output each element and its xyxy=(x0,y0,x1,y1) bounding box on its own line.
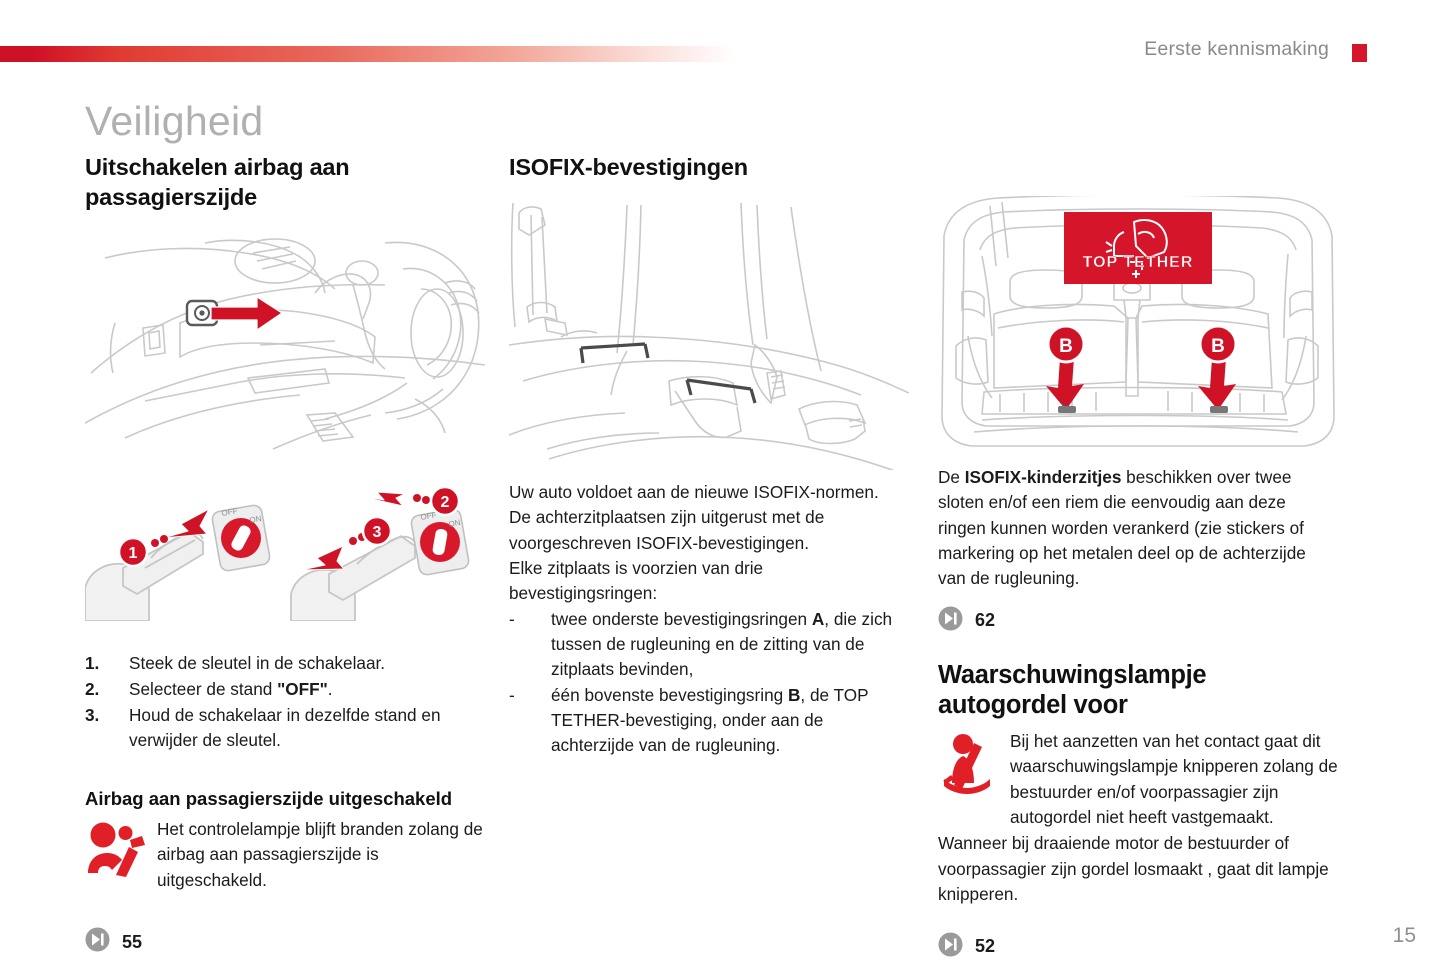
seatbelt-warning-text: Bij het aanzetten van het contact gaat d… xyxy=(1010,729,1338,830)
isofix-paragraph-1: Uw auto voldoet aan de nieuwe ISOFIX-nor… xyxy=(509,480,909,505)
step-text: Steek de sleutel in de schakelaar. xyxy=(129,653,385,673)
svg-text:B: B xyxy=(1059,336,1073,357)
seatbelt-warning-icon xyxy=(938,729,1010,800)
bullet-dash: - xyxy=(509,607,515,632)
bullet-item: - twee onderste bevestigingsringen A, di… xyxy=(509,607,909,683)
step-text-before: Selecteer de stand xyxy=(129,679,277,699)
red-square-icon xyxy=(1352,44,1367,62)
bullet-text-before: twee onderste bevestigingsringen xyxy=(551,609,812,629)
paragraph-text-bold: ISOFIX-kinderzitjes xyxy=(965,467,1122,487)
section-title-airbag: Uitschakelen airbag aan passagierszijde xyxy=(85,153,485,213)
right-column: TOP TETHER B B De ISOFIX-kinderzitjes be… xyxy=(938,196,1338,962)
page-ref-number: 52 xyxy=(975,936,995,957)
paragraph-text-before: De xyxy=(938,467,965,487)
section-title-isofix: ISOFIX-bevestigingen xyxy=(509,153,909,183)
seatbelt-paragraph-2: Wanneer bij draaiende motor de bestuurde… xyxy=(938,831,1338,907)
airbag-warning-text: Het controlelampje blijft branden zolang… xyxy=(157,817,485,893)
key-switch-steps-illustration: OFF ON 1 xyxy=(85,476,485,621)
page-title: Veiligheid xyxy=(85,98,264,145)
bullet-text-bold: A xyxy=(812,609,824,629)
bullet-text-bold: B xyxy=(788,685,800,705)
folio-page-number: 15 xyxy=(1393,924,1416,948)
step-text-bold: "OFF" xyxy=(277,679,328,699)
isofix-paragraph-3: Elke zitplaats is voorzien van drie beve… xyxy=(509,556,909,607)
svg-text:2: 2 xyxy=(441,494,450,511)
page-ref-number: 62 xyxy=(975,610,995,631)
section-title-seatbelt-warning: Waarschuwingslampje autogordel voor xyxy=(938,660,1338,721)
step-text: Houd de schakelaar in dezelfde stand en … xyxy=(129,705,441,750)
sub-title-airbag-off: Airbag aan passagierszijde uitgeschakeld xyxy=(85,788,485,810)
page-ref-52[interactable]: 52 xyxy=(938,932,1338,962)
page-jump-icon xyxy=(938,606,963,636)
page-ref-55[interactable]: 55 xyxy=(85,927,485,957)
seatbelt-warning-block: Bij het aanzetten van het contact gaat d… xyxy=(938,729,1338,830)
svg-text:TOP TETHER: TOP TETHER xyxy=(1083,254,1194,271)
left-column: Uitschakelen airbag aan passagierszijde xyxy=(85,153,485,957)
airbag-steps-list: 1. Steek de sleutel in de schakelaar. 2.… xyxy=(85,651,485,753)
chapter-label: Eerste kennismaking xyxy=(1144,38,1329,61)
page-jump-icon xyxy=(85,927,110,957)
page-ref-62[interactable]: 62 xyxy=(938,606,1338,636)
airbag-warning-block: Het controlelampje blijft branden zolang… xyxy=(85,817,485,893)
isofix-childseat-paragraph: De ISOFIX-kinderzitjes beschikken over t… xyxy=(938,465,1338,592)
page-ref-number: 55 xyxy=(122,932,142,953)
step-number: 2. xyxy=(85,677,99,702)
bullet-item: - één bovenste bevestigingsring B, de TO… xyxy=(509,683,909,759)
svg-text:B: B xyxy=(1211,336,1225,357)
bullet-text-before: één bovenste bevestigingsring xyxy=(551,685,788,705)
svg-text:3: 3 xyxy=(373,524,382,541)
middle-column: ISOFIX-bevestigingen xyxy=(509,153,909,759)
step-number: 1. xyxy=(85,651,99,676)
page-jump-icon xyxy=(938,932,963,962)
boot-top-tether-illustration: TOP TETHER B B xyxy=(938,196,1338,451)
header-accent-bar xyxy=(0,46,735,62)
isofix-paragraph-2: De achterzitplaatsen zijn uitgerust met … xyxy=(509,505,909,556)
isofix-bullet-list: - twee onderste bevestigingsringen A, di… xyxy=(509,607,909,759)
svg-text:1: 1 xyxy=(129,545,138,562)
step-item: 1. Steek de sleutel in de schakelaar. xyxy=(85,651,485,676)
step-item: 2. Selecteer de stand "OFF". xyxy=(85,677,485,702)
step-item: 3. Houd de schakelaar in dezelfde stand … xyxy=(85,703,485,753)
step-number: 3. xyxy=(85,703,99,728)
step-text-after: . xyxy=(328,679,333,699)
rear-seat-isofix-illustration: ISOFIX A A xyxy=(509,195,909,470)
dashboard-airbag-switch-illustration xyxy=(85,223,485,468)
bullet-dash: - xyxy=(509,683,515,708)
airbag-disabled-icon xyxy=(85,817,157,884)
